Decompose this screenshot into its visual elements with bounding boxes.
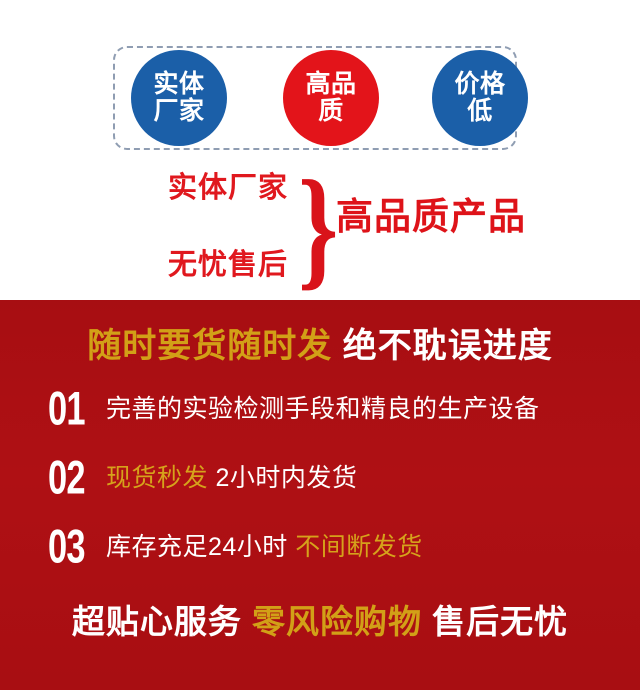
feature-segment: 不间断发货 xyxy=(295,533,423,561)
brace-left-line-2: 无忧售后 xyxy=(168,251,288,280)
feature-text: 库存充足24小时 不间断发货 xyxy=(106,535,423,560)
badge-circle-price: 价格 低 xyxy=(432,50,528,146)
feature-text: 完善的实验检测手段和精良的生产设备 xyxy=(106,397,540,422)
brace-right-label: 高品质产品 xyxy=(336,198,526,235)
badge-line: 实体 xyxy=(153,71,204,98)
promo-header-white: 绝不耽误进度 xyxy=(343,327,553,365)
badge-line: 质 xyxy=(318,98,344,125)
badge-circle-manufacturer: 实体 厂家 xyxy=(131,50,227,146)
promo-footer-part-1: 超贴心服务 xyxy=(72,603,242,640)
promo-footer-part-2: 零风险购物 xyxy=(252,603,422,640)
promo-header: 随时要货随时发 绝不耽误进度 xyxy=(0,318,640,367)
feature-segment: 2小时内发货 xyxy=(215,464,357,492)
feature-row: 02 现货秒发 2小时内发货 xyxy=(48,453,608,503)
feature-number: 02 xyxy=(48,454,96,501)
red-promo-panel: 随时要货随时发 绝不耽误进度 01 完善的实验检测手段和精良的生产设备 02 现… xyxy=(0,300,640,690)
brace-left-line-1: 实体厂家 xyxy=(168,174,288,203)
badge-line: 厂家 xyxy=(153,98,204,125)
feature-segment: 现货秒发 xyxy=(106,464,208,492)
badge-circle-quality: 高品 质 xyxy=(283,50,379,146)
feature-segment: 库存充足24小时 xyxy=(106,533,288,561)
badge-line: 低 xyxy=(467,98,493,125)
brace-left-labels: 实体厂家 无忧售后 xyxy=(168,174,308,280)
top-white-section: 实体 厂家 高品 质 价格 低 实体厂家 无忧售后 } 高品质产品 xyxy=(0,0,640,300)
feature-row: 03 库存充足24小时 不间断发货 xyxy=(48,522,608,572)
badge-line: 高品 xyxy=(305,71,356,98)
feature-text: 现货秒发 2小时内发货 xyxy=(106,466,357,491)
curly-brace-icon: } xyxy=(298,160,338,294)
feature-number: 01 xyxy=(48,385,96,432)
promo-footer: 超贴心服务 零风险购物 售后无忧 xyxy=(0,595,640,643)
badge-line: 价格 xyxy=(454,71,505,98)
feature-number: 03 xyxy=(48,523,96,570)
feature-segment: 完善的实验检测手段和精良的生产设备 xyxy=(106,395,540,423)
promo-footer-part-3: 售后无忧 xyxy=(432,603,568,640)
feature-row: 01 完善的实验检测手段和精良的生产设备 xyxy=(48,384,608,434)
promo-header-gold: 随时要货随时发 xyxy=(87,327,332,365)
brace-statement-block: 实体厂家 无忧售后 } 高品质产品 xyxy=(0,174,640,284)
